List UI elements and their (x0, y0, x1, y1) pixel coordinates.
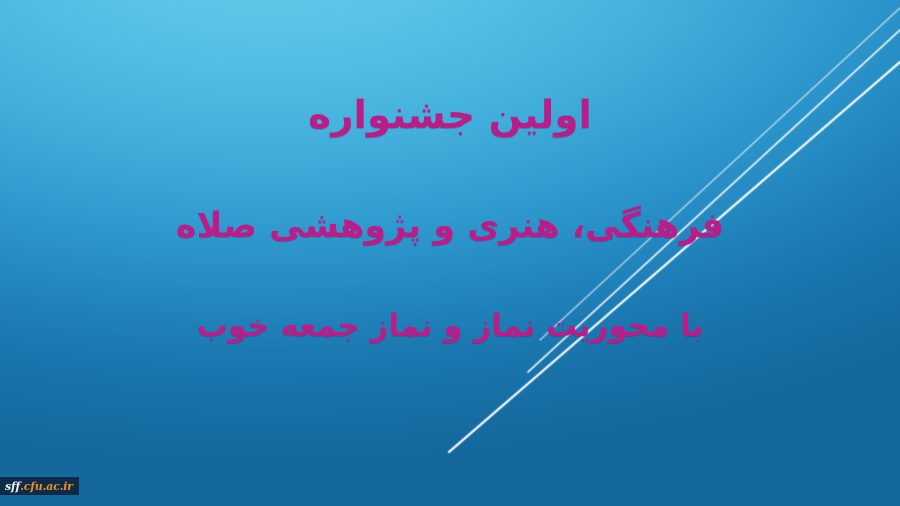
site-watermark: sff.cfu.ac.ir (0, 477, 79, 495)
headline-line-3: با محوریت نماز و نماز جمعه خوب (0, 310, 900, 343)
watermark-prefix: sff (5, 481, 20, 492)
watermark-suffix: .cfu.ac.ir (20, 481, 73, 492)
headline-stack: اولین جشنواره فرهنگی، هنری و پژوهشی صلاه… (0, 0, 900, 506)
poster-canvas: اولین جشنواره فرهنگی، هنری و پژوهشی صلاه… (0, 0, 900, 506)
headline-line-2: فرهنگی، هنری و پژوهشی صلاه (0, 208, 900, 245)
headline-line-1: اولین جشنواره (0, 96, 900, 137)
